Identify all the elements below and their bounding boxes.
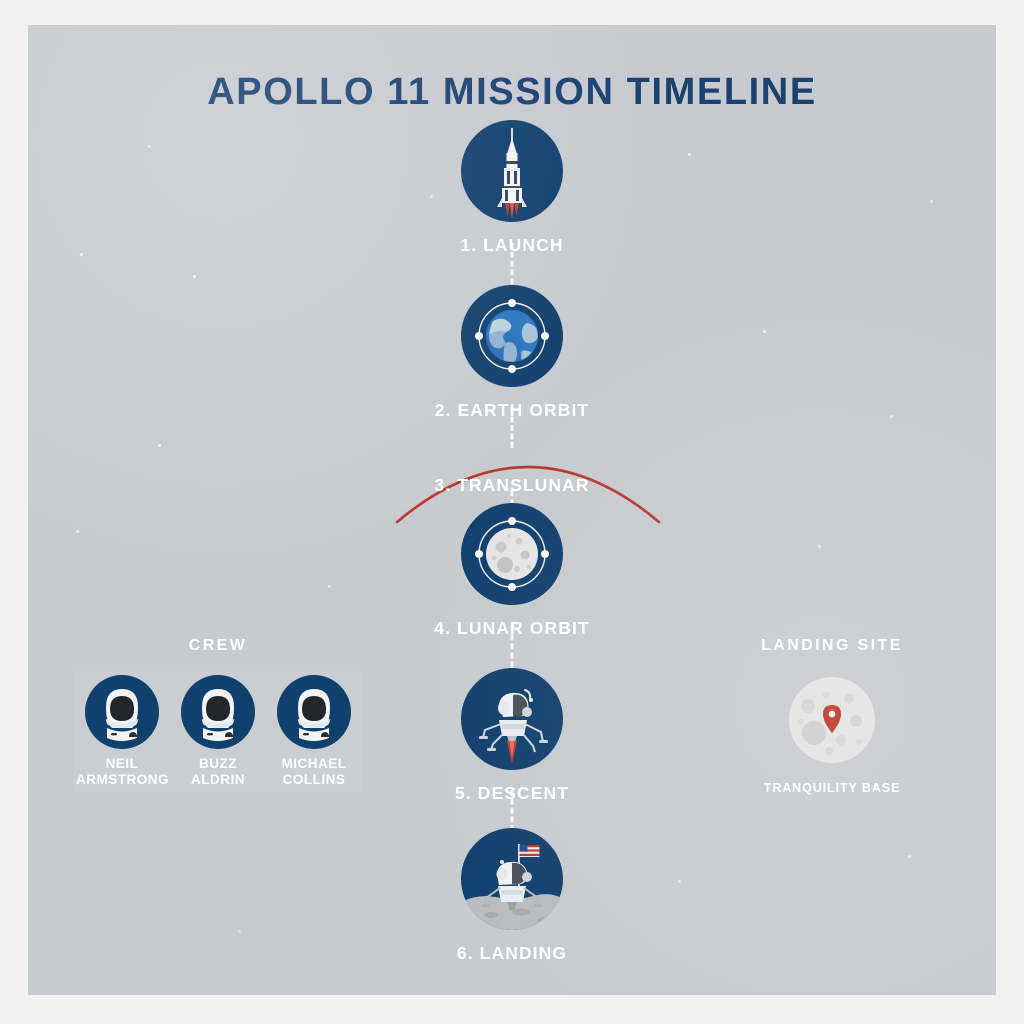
crew-member-buzz-aldrin[interactable]: BUZZ ALDRIN: [172, 675, 264, 788]
moon-orbit-icon: [461, 503, 563, 605]
crew-last-name: ALDRIN: [191, 772, 245, 787]
crew-section: CREW NEIL: [73, 637, 363, 792]
main-panel: APOLLO 11 MISSION TIMELINE: [28, 25, 996, 995]
crew-member-name: MICHAEL COLLINS: [268, 756, 360, 788]
crew-member-michael-collins[interactable]: MICHAEL COLLINS: [268, 675, 360, 788]
timeline-step-descent[interactable]: 5. DESCENT: [402, 668, 622, 804]
crew-first-name: BUZZ: [199, 756, 237, 771]
crew-member-name: NEIL ARMSTRONG: [76, 756, 168, 788]
timeline-step-label: 1. LAUNCH: [402, 235, 622, 256]
moon-with-pin-icon[interactable]: [789, 677, 875, 763]
astronaut-helmet-icon: [85, 675, 159, 749]
astronaut-helmet-icon: [181, 675, 255, 749]
crew-last-name: COLLINS: [283, 772, 346, 787]
timeline-step-label: 4. LUNAR ORBIT: [402, 618, 622, 639]
lunar-module-landed-flag-icon: [461, 828, 563, 930]
crew-first-name: MICHAEL: [282, 756, 347, 771]
timeline-step-translunar[interactable]: 3. TRANSLUNAR: [28, 475, 996, 496]
infographic-root: APOLLO 11 MISSION TIMELINE: [0, 0, 1024, 1024]
crew-member-neil-armstrong[interactable]: NEIL ARMSTRONG: [76, 675, 168, 788]
astronaut-helmet-icon: [277, 675, 351, 749]
landing-site-name: TRANQUILITY BASE: [708, 781, 956, 795]
earth-globe-orbit-icon: [461, 285, 563, 387]
landing-site-heading: LANDING SITE: [708, 637, 956, 655]
landing-site-section: LANDING SITE: [708, 637, 956, 795]
timeline-step-earth-orbit[interactable]: 2. EARTH ORBIT: [402, 285, 622, 421]
page-title: APOLLO 11 MISSION TIMELINE: [28, 71, 996, 114]
crew-member-name: BUZZ ALDRIN: [172, 756, 264, 788]
crew-last-name: ARMSTRONG: [76, 772, 169, 787]
saturn-v-rocket-icon: [461, 120, 563, 222]
timeline-step-label: 6. LANDING: [402, 943, 622, 964]
timeline-step-landing[interactable]: 6. LANDING: [402, 828, 622, 964]
timeline-step-launch[interactable]: 1. LAUNCH: [402, 120, 622, 256]
crew-first-name: NEIL: [106, 756, 139, 771]
timeline-step-lunar-orbit[interactable]: 4. LUNAR ORBIT: [402, 503, 622, 639]
timeline-step-label: 2. EARTH ORBIT: [402, 400, 622, 421]
crew-heading: CREW: [73, 637, 363, 655]
lunar-module-descent-icon: [461, 668, 563, 770]
timeline-step-label: 5. DESCENT: [402, 783, 622, 804]
crew-list: NEIL ARMSTRONG: [73, 671, 363, 792]
